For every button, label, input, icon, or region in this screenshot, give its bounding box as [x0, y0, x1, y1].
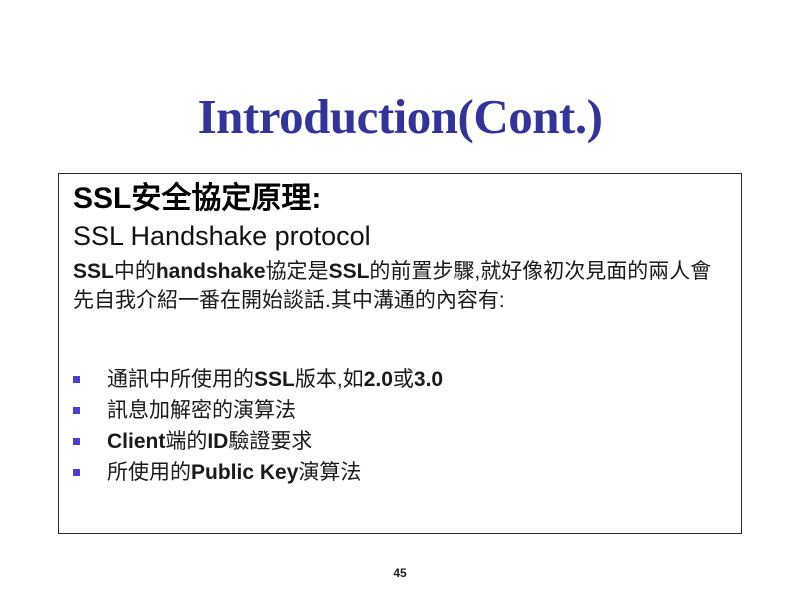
content-box: SSL安全協定原理: SSL Handshake protocol SSL中的h… [58, 173, 742, 534]
paragraph-segment: 中的 [114, 260, 156, 283]
intro-paragraph: SSL中的handshake協定是SSL的前置步驟,就好像初次見面的兩人會先自我… [69, 253, 731, 315]
list-item-segment: 3.0 [414, 368, 443, 391]
presentation-slide: Introduction(Cont.) SSL安全協定原理: SSL Hands… [0, 0, 800, 600]
list-item-segment: 2.0 [364, 368, 393, 391]
list-item[interactable]: 訊息加解密的演算法 [69, 395, 709, 426]
square-bullet-icon [73, 407, 80, 414]
list-item[interactable]: Client端的ID驗證要求 [69, 426, 709, 457]
list-item-segment: 端的 [165, 430, 207, 453]
page-title: Introduction(Cont.) [0, 88, 800, 146]
list-item-segment: SSL [254, 368, 295, 391]
list-item-segment: ID [207, 430, 228, 453]
bullet-list: 通訊中所使用的SSL版本,如2.0或3.0訊息加解密的演算法Client端的ID… [69, 364, 709, 488]
paragraph-segment: SSL [73, 260, 114, 283]
list-item-segment: Public Key [191, 461, 298, 484]
list-item-segment: 或 [393, 368, 414, 391]
list-item-segment: 訊息加解密的演算法 [107, 399, 296, 422]
list-item-label: 所使用的Public Key演算法 [107, 461, 361, 484]
list-item[interactable]: 所使用的Public Key演算法 [69, 457, 709, 488]
slide-page-number: 45 [0, 566, 800, 580]
list-item-segment: 所使用的 [107, 461, 191, 484]
list-item[interactable]: 通訊中所使用的SSL版本,如2.0或3.0 [69, 364, 709, 395]
paragraph-segment: SSL [329, 260, 370, 283]
list-item-segment: Client [107, 430, 165, 453]
square-bullet-icon [73, 469, 80, 476]
content-heading-sub: SSL Handshake protocol [69, 218, 731, 253]
square-bullet-icon [73, 438, 80, 445]
list-item-label: 通訊中所使用的SSL版本,如2.0或3.0 [107, 368, 443, 391]
list-item-segment: 通訊中所使用的 [107, 368, 254, 391]
content-heading-main: SSL安全協定原理: [69, 180, 731, 218]
square-bullet-icon [73, 376, 80, 383]
list-item-segment: 版本,如 [295, 368, 364, 391]
list-item-label: Client端的ID驗證要求 [107, 430, 312, 453]
list-item-label: 訊息加解密的演算法 [107, 399, 296, 422]
list-item-segment: 演算法 [298, 461, 361, 484]
paragraph-segment: 協定是 [266, 260, 329, 283]
list-item-segment: 驗證要求 [228, 430, 312, 453]
paragraph-segment: handshake [156, 260, 266, 283]
